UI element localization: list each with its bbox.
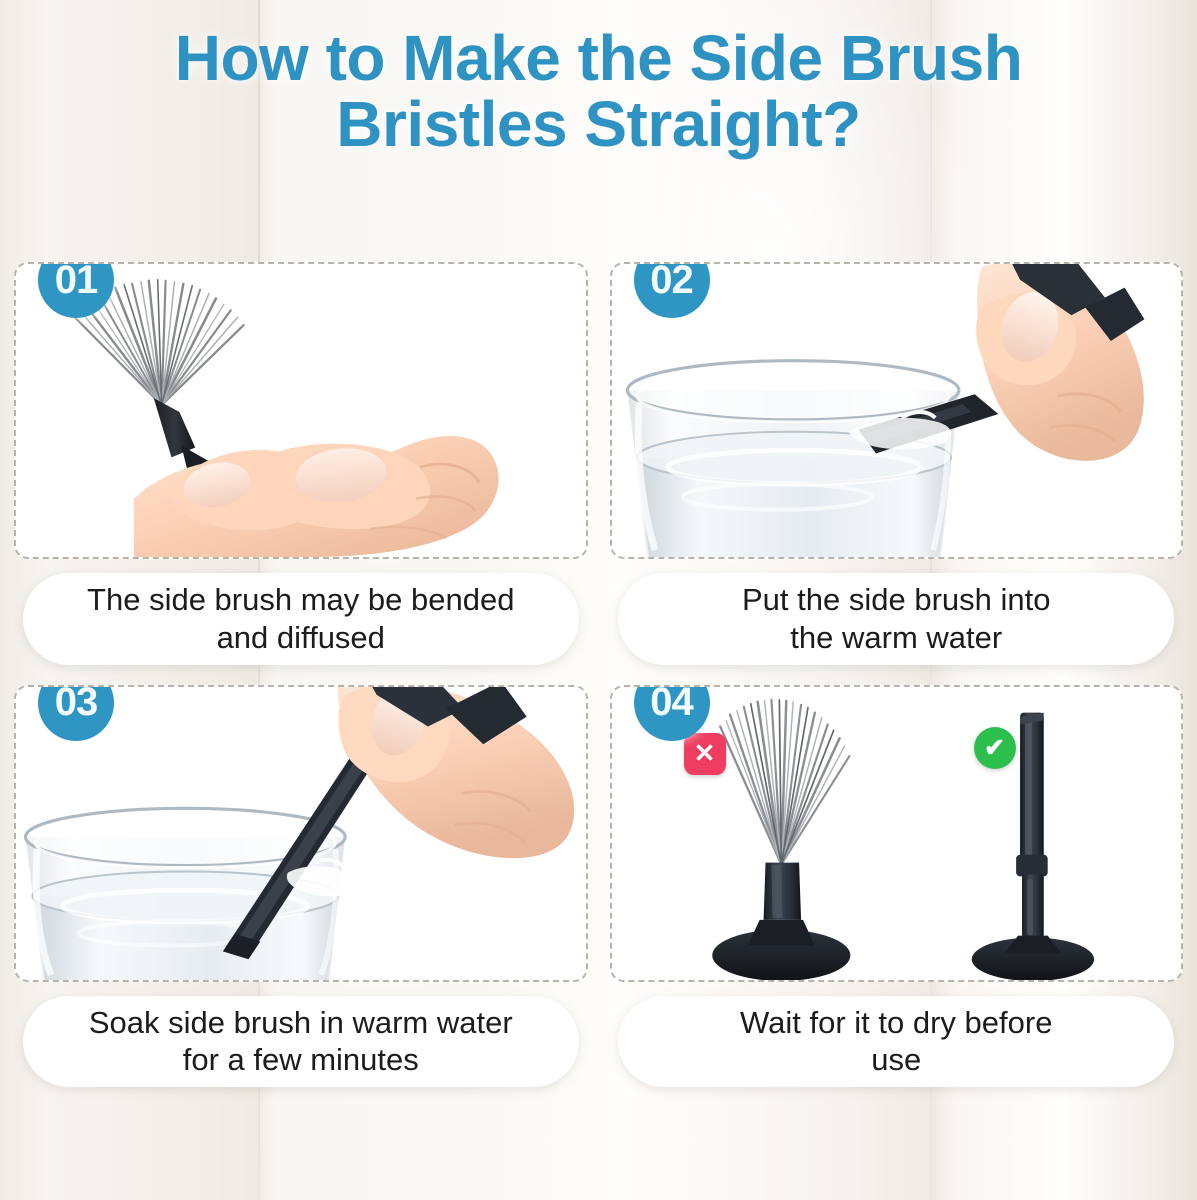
step-02: 02 xyxy=(610,262,1184,665)
step-03-photo: 03 xyxy=(14,685,588,982)
page-title-line-2: Bristles Straight? xyxy=(22,92,1175,158)
step-02-photo: 02 xyxy=(610,262,1184,559)
step-02-caption: Put the side brush into the warm water xyxy=(618,573,1174,665)
cross-icon: ✕ xyxy=(684,733,726,775)
check-icon: ✔ xyxy=(974,727,1016,769)
step-04-photo: 04 ✕ ✔ xyxy=(610,685,1184,982)
step-01: 01 xyxy=(14,262,588,665)
steps-row-bottom: 03 xyxy=(0,685,1197,1088)
infographic: How to Make the Side Brush Bristles Stra… xyxy=(0,0,1197,1200)
step-04: 04 ✕ ✔ xyxy=(610,685,1184,1088)
steps-grid: 01 xyxy=(0,262,1197,1087)
step-03-caption: Soak side brush in warm water for a few … xyxy=(23,996,579,1088)
step-04-caption: Wait for it to dry before use xyxy=(618,996,1174,1088)
step-01-photo: 01 xyxy=(14,262,588,559)
step-03: 03 xyxy=(14,685,588,1088)
page-title-line-1: How to Make the Side Brush xyxy=(175,22,1023,94)
page-title: How to Make the Side Brush Bristles Stra… xyxy=(0,26,1197,158)
steps-row-top: 01 xyxy=(0,262,1197,665)
step-01-caption: The side brush may be bended and diffuse… xyxy=(23,573,579,665)
